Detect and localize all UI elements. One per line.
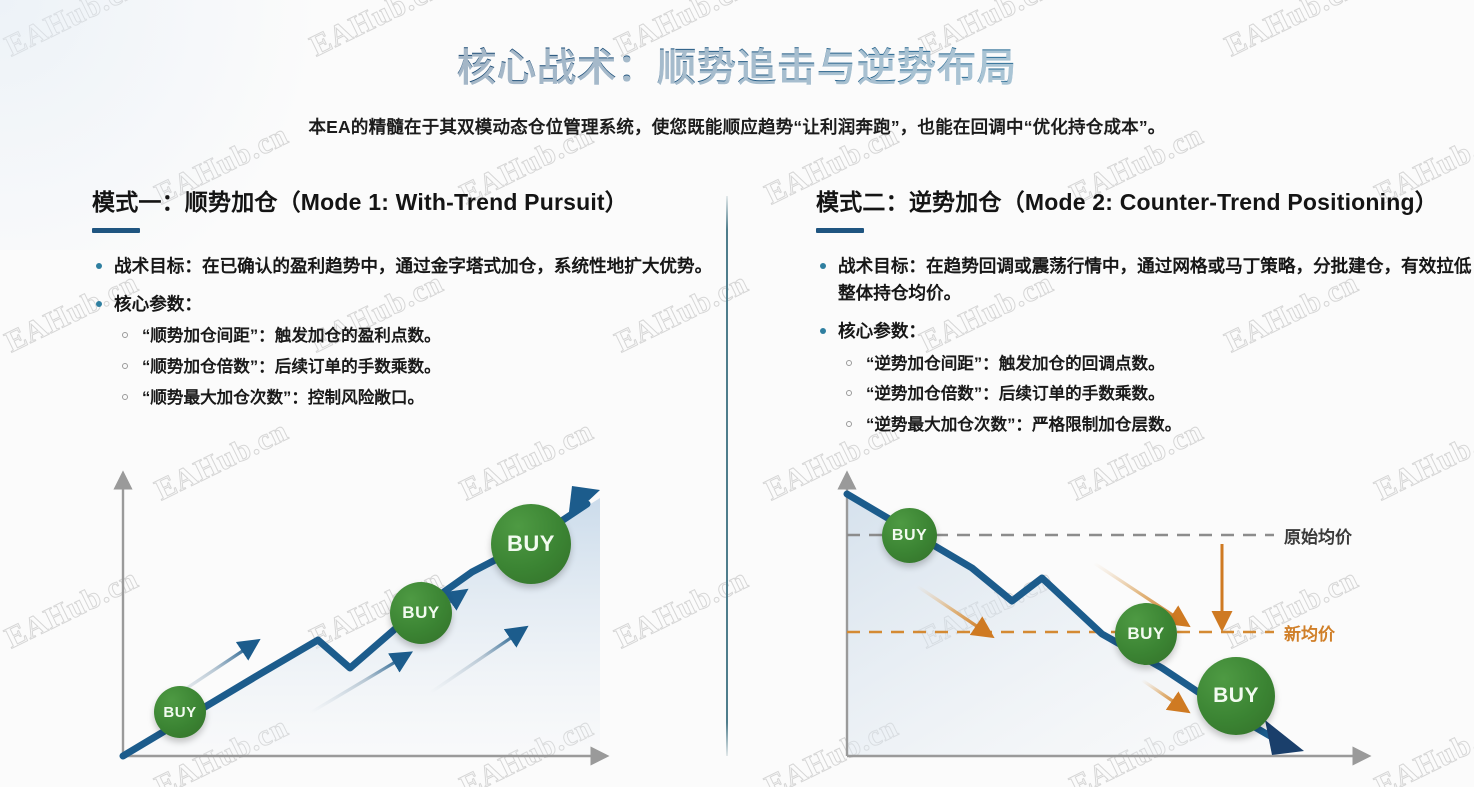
bullet-text: 核心参数： [838,321,926,341]
column-divider [726,196,728,756]
mode-1-diagram: BUY BUY BUY [100,468,660,778]
buy-label: BUY [402,603,439,623]
mode-1-heading: 模式一：顺势加仓（Mode 1: With-Trend Pursuit） [92,188,730,217]
list-item: “顺势加仓倍数”：后续订单的手数乘数。 [114,355,730,380]
mode-2-diagram: BUY BUY BUY 原始均价 新均价 [822,468,1392,778]
sub-text: “逆势加仓间距”：触发加仓的回调点数。 [866,354,1165,373]
mode-2-sub-list: “逆势加仓间距”：触发加仓的回调点数。 “逆势加仓倍数”：后续订单的手数乘数。 … [838,352,1474,439]
sub-text: “顺势最大加仓次数”：控制风险敞口。 [142,388,424,407]
sub-text: “逆势加仓倍数”：后续订单的手数乘数。 [866,384,1165,403]
list-item: “逆势加仓间距”：触发加仓的回调点数。 [838,352,1474,377]
slide-canvas: 核心战术：顺势追击与逆势布局 本EA的精髓在于其双模动态仓位管理系统，使您既能顺… [0,0,1474,787]
sub-text: “顺势加仓倍数”：后续订单的手数乘数。 [142,357,441,376]
slide-header: 核心战术：顺势追击与逆势布局 本EA的精髓在于其双模动态仓位管理系统，使您既能顺… [0,46,1474,140]
mode-2-heading: 模式二：逆势加仓（Mode 2: Counter-Trend Positioni… [816,188,1474,217]
list-item: “逆势最大加仓次数”：严格限制加仓层数。 [838,413,1474,438]
buy-label: BUY [163,704,196,721]
list-item: 核心参数： “顺势加仓间距”：触发加仓的盈利点数。 “顺势加仓倍数”：后续订单的… [92,291,730,411]
new-average-price-label: 新均价 [1284,620,1335,645]
columns-container: 模式一：顺势加仓（Mode 1: With-Trend Pursuit） 战术目… [0,188,1474,768]
buy-marker-1: BUY [154,686,206,738]
bullet-text: 战术目标：在已确认的盈利趋势中，通过金字塔式加仓，系统性地扩大优势。 [114,256,712,276]
buy-label: BUY [507,531,555,557]
buy-marker-3: BUY [491,504,571,584]
page-title: 核心战术：顺势追击与逆势布局 [0,46,1474,92]
original-average-price-label: 原始均价 [1284,523,1352,548]
bullet-text: 战术目标：在趋势回调或震荡行情中，通过网格或马丁策略，分批建仓，有效拉低整体持仓… [838,256,1471,303]
buy-label: BUY [1127,624,1164,644]
buy-marker-1: BUY [882,508,937,563]
list-item: “顺势加仓间距”：触发加仓的盈利点数。 [114,324,730,349]
column-mode-2: 模式二：逆势加仓（Mode 2: Counter-Trend Positioni… [816,188,1474,768]
mode-2-accent-bar [816,228,864,233]
list-item: “顺势最大加仓次数”：控制风险敞口。 [114,386,730,411]
buy-marker-2: BUY [390,582,452,644]
list-item: 核心参数： “逆势加仓间距”：触发加仓的回调点数。 “逆势加仓倍数”：后续订单的… [816,318,1474,438]
sub-text: “逆势最大加仓次数”：严格限制加仓层数。 [866,415,1181,434]
mode-2-bullet-list: 战术目标：在趋势回调或震荡行情中，通过网格或马丁策略，分批建仓，有效拉低整体持仓… [816,253,1474,438]
mode-1-sub-list: “顺势加仓间距”：触发加仓的盈利点数。 “顺势加仓倍数”：后续订单的手数乘数。 … [114,324,730,411]
buy-marker-2: BUY [1115,603,1177,665]
list-item: 战术目标：在已确认的盈利趋势中，通过金字塔式加仓，系统性地扩大优势。 [92,253,730,280]
list-item: 战术目标：在趋势回调或震荡行情中，通过网格或马丁策略，分批建仓，有效拉低整体持仓… [816,253,1474,308]
page-subtitle: 本EA的精髓在于其双模动态仓位管理系统，使您既能顺应趋势“让利润奔跑”，也能在回… [0,114,1474,140]
mode-1-accent-bar [92,228,140,233]
sub-text: “顺势加仓间距”：触发加仓的盈利点数。 [142,326,441,345]
mode-1-bullet-list: 战术目标：在已确认的盈利趋势中，通过金字塔式加仓，系统性地扩大优势。 核心参数：… [92,253,730,411]
buy-label: BUY [892,527,927,545]
column-mode-1: 模式一：顺势加仓（Mode 1: With-Trend Pursuit） 战术目… [92,188,730,768]
buy-label: BUY [1213,684,1259,708]
buy-marker-3: BUY [1197,657,1275,735]
bullet-text: 核心参数： [114,294,202,314]
list-item: “逆势加仓倍数”：后续订单的手数乘数。 [838,382,1474,407]
